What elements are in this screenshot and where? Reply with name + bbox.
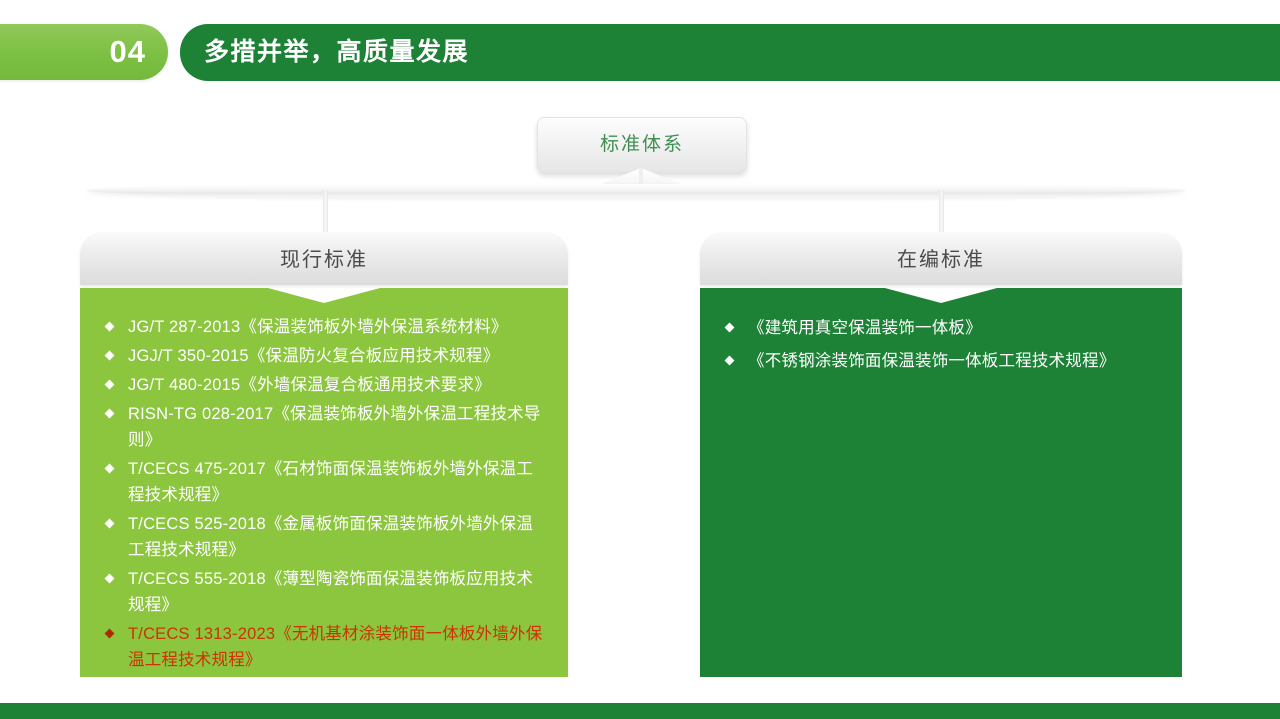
panel-header-current: 现行标准: [80, 232, 568, 285]
diamond-bullet-icon: [105, 464, 115, 474]
diamond-bullet-icon: [105, 322, 115, 332]
page-title: 多措并举，高质量发展: [204, 24, 469, 81]
diamond-bullet-icon: [105, 629, 115, 639]
diamond-bullet-icon: [105, 351, 115, 361]
list-item-text: T/CECS 525-2018《金属板饰面保温装饰板外墙外保温工程技术规程》: [128, 515, 533, 559]
panel-header-label-current: 现行标准: [80, 232, 568, 285]
connector-stem-right: [939, 190, 944, 236]
list-item-text: T/CECS 475-2017《石材饰面保温装饰板外墙外保温工程技术规程》: [128, 460, 533, 504]
list-item-text: JG/T 287-2013《保温装饰板外墙外保温系统材料》: [128, 318, 508, 336]
panel-notch-current: [268, 288, 380, 303]
list-item-highlighted[interactable]: T/CECS 1313-2023《无机基材涂装饰面一体板外墙外保温工程技术规程》: [102, 621, 546, 673]
list-item-text: JGJ/T 350-2015《保温防火复合板应用技术规程》: [128, 347, 499, 365]
section-number-pill: 04: [0, 24, 168, 80]
panel-header-label-drafting: 在编标准: [700, 232, 1182, 285]
list-item-text: 《建筑用真空保温装饰一体板》: [748, 319, 982, 337]
footer-bar: [0, 703, 1280, 719]
list-item-text: T/CECS 1313-2023《无机基材涂装饰面一体板外墙外保温工程技术规程》: [128, 625, 542, 669]
diamond-bullet-icon: [725, 356, 735, 366]
diamond-bullet-icon: [105, 519, 115, 529]
section-number: 04: [110, 24, 146, 80]
list-item-text: JG/T 480-2015《外墙保温复合板通用技术要求》: [128, 376, 491, 394]
list-item-text: 《不锈钢涂装饰面保温装饰一体板工程技术规程》: [748, 352, 1115, 370]
standards-list-drafting: 《建筑用真空保温装饰一体板》 《不锈钢涂装饰面保温装饰一体板工程技术规程》: [722, 314, 1160, 375]
slide-header: 04 多措并举，高质量发展: [0, 0, 1280, 100]
panel-drafting-standards: 在编标准 《建筑用真空保温装饰一体板》 《不锈钢涂装饰面保温装饰一体板工程技术规…: [700, 232, 1182, 677]
list-item[interactable]: 《不锈钢涂装饰面保温装饰一体板工程技术规程》: [722, 347, 1160, 375]
standards-list-current: JG/T 287-2013《保温装饰板外墙外保温系统材料》 JGJ/T 350-…: [102, 314, 546, 673]
diamond-bullet-icon: [105, 409, 115, 419]
panel-body-current: JG/T 287-2013《保温装饰板外墙外保温系统材料》 JGJ/T 350-…: [80, 288, 568, 677]
connector-horizontal-bar: [86, 184, 1186, 197]
diamond-bullet-icon: [105, 380, 115, 390]
diagram-root-node: 标准体系: [537, 117, 747, 173]
diagram-root-label: 标准体系: [538, 118, 746, 172]
diamond-bullet-icon: [725, 323, 735, 333]
list-item[interactable]: JG/T 287-2013《保温装饰板外墙外保温系统材料》: [102, 314, 546, 340]
list-item-text: T/CECS 555-2018《薄型陶瓷饰面保温装饰板应用技术规程》: [128, 570, 533, 614]
list-item[interactable]: RISN-TG 028-2017《保温装饰板外墙外保温工程技术导则》: [102, 401, 546, 453]
list-item[interactable]: JGJ/T 350-2015《保温防火复合板应用技术规程》: [102, 343, 546, 369]
list-item[interactable]: T/CECS 475-2017《石材饰面保温装饰板外墙外保温工程技术规程》: [102, 456, 546, 508]
list-item[interactable]: 《建筑用真空保温装饰一体板》: [722, 314, 1160, 342]
connector-stem-left: [323, 190, 328, 236]
panel-header-drafting: 在编标准: [700, 232, 1182, 285]
list-item[interactable]: T/CECS 525-2018《金属板饰面保温装饰板外墙外保温工程技术规程》: [102, 511, 546, 563]
list-item-text: RISN-TG 028-2017《保温装饰板外墙外保温工程技术导则》: [128, 405, 541, 449]
list-item[interactable]: JG/T 480-2015《外墙保温复合板通用技术要求》: [102, 372, 546, 398]
panel-notch-drafting: [885, 288, 997, 303]
panel-current-standards: 现行标准 JG/T 287-2013《保温装饰板外墙外保温系统材料》 JGJ/T…: [80, 232, 568, 677]
diamond-bullet-icon: [105, 574, 115, 584]
panel-body-drafting: 《建筑用真空保温装饰一体板》 《不锈钢涂装饰面保温装饰一体板工程技术规程》: [700, 288, 1182, 677]
list-item[interactable]: T/CECS 555-2018《薄型陶瓷饰面保温装饰板应用技术规程》: [102, 566, 546, 618]
